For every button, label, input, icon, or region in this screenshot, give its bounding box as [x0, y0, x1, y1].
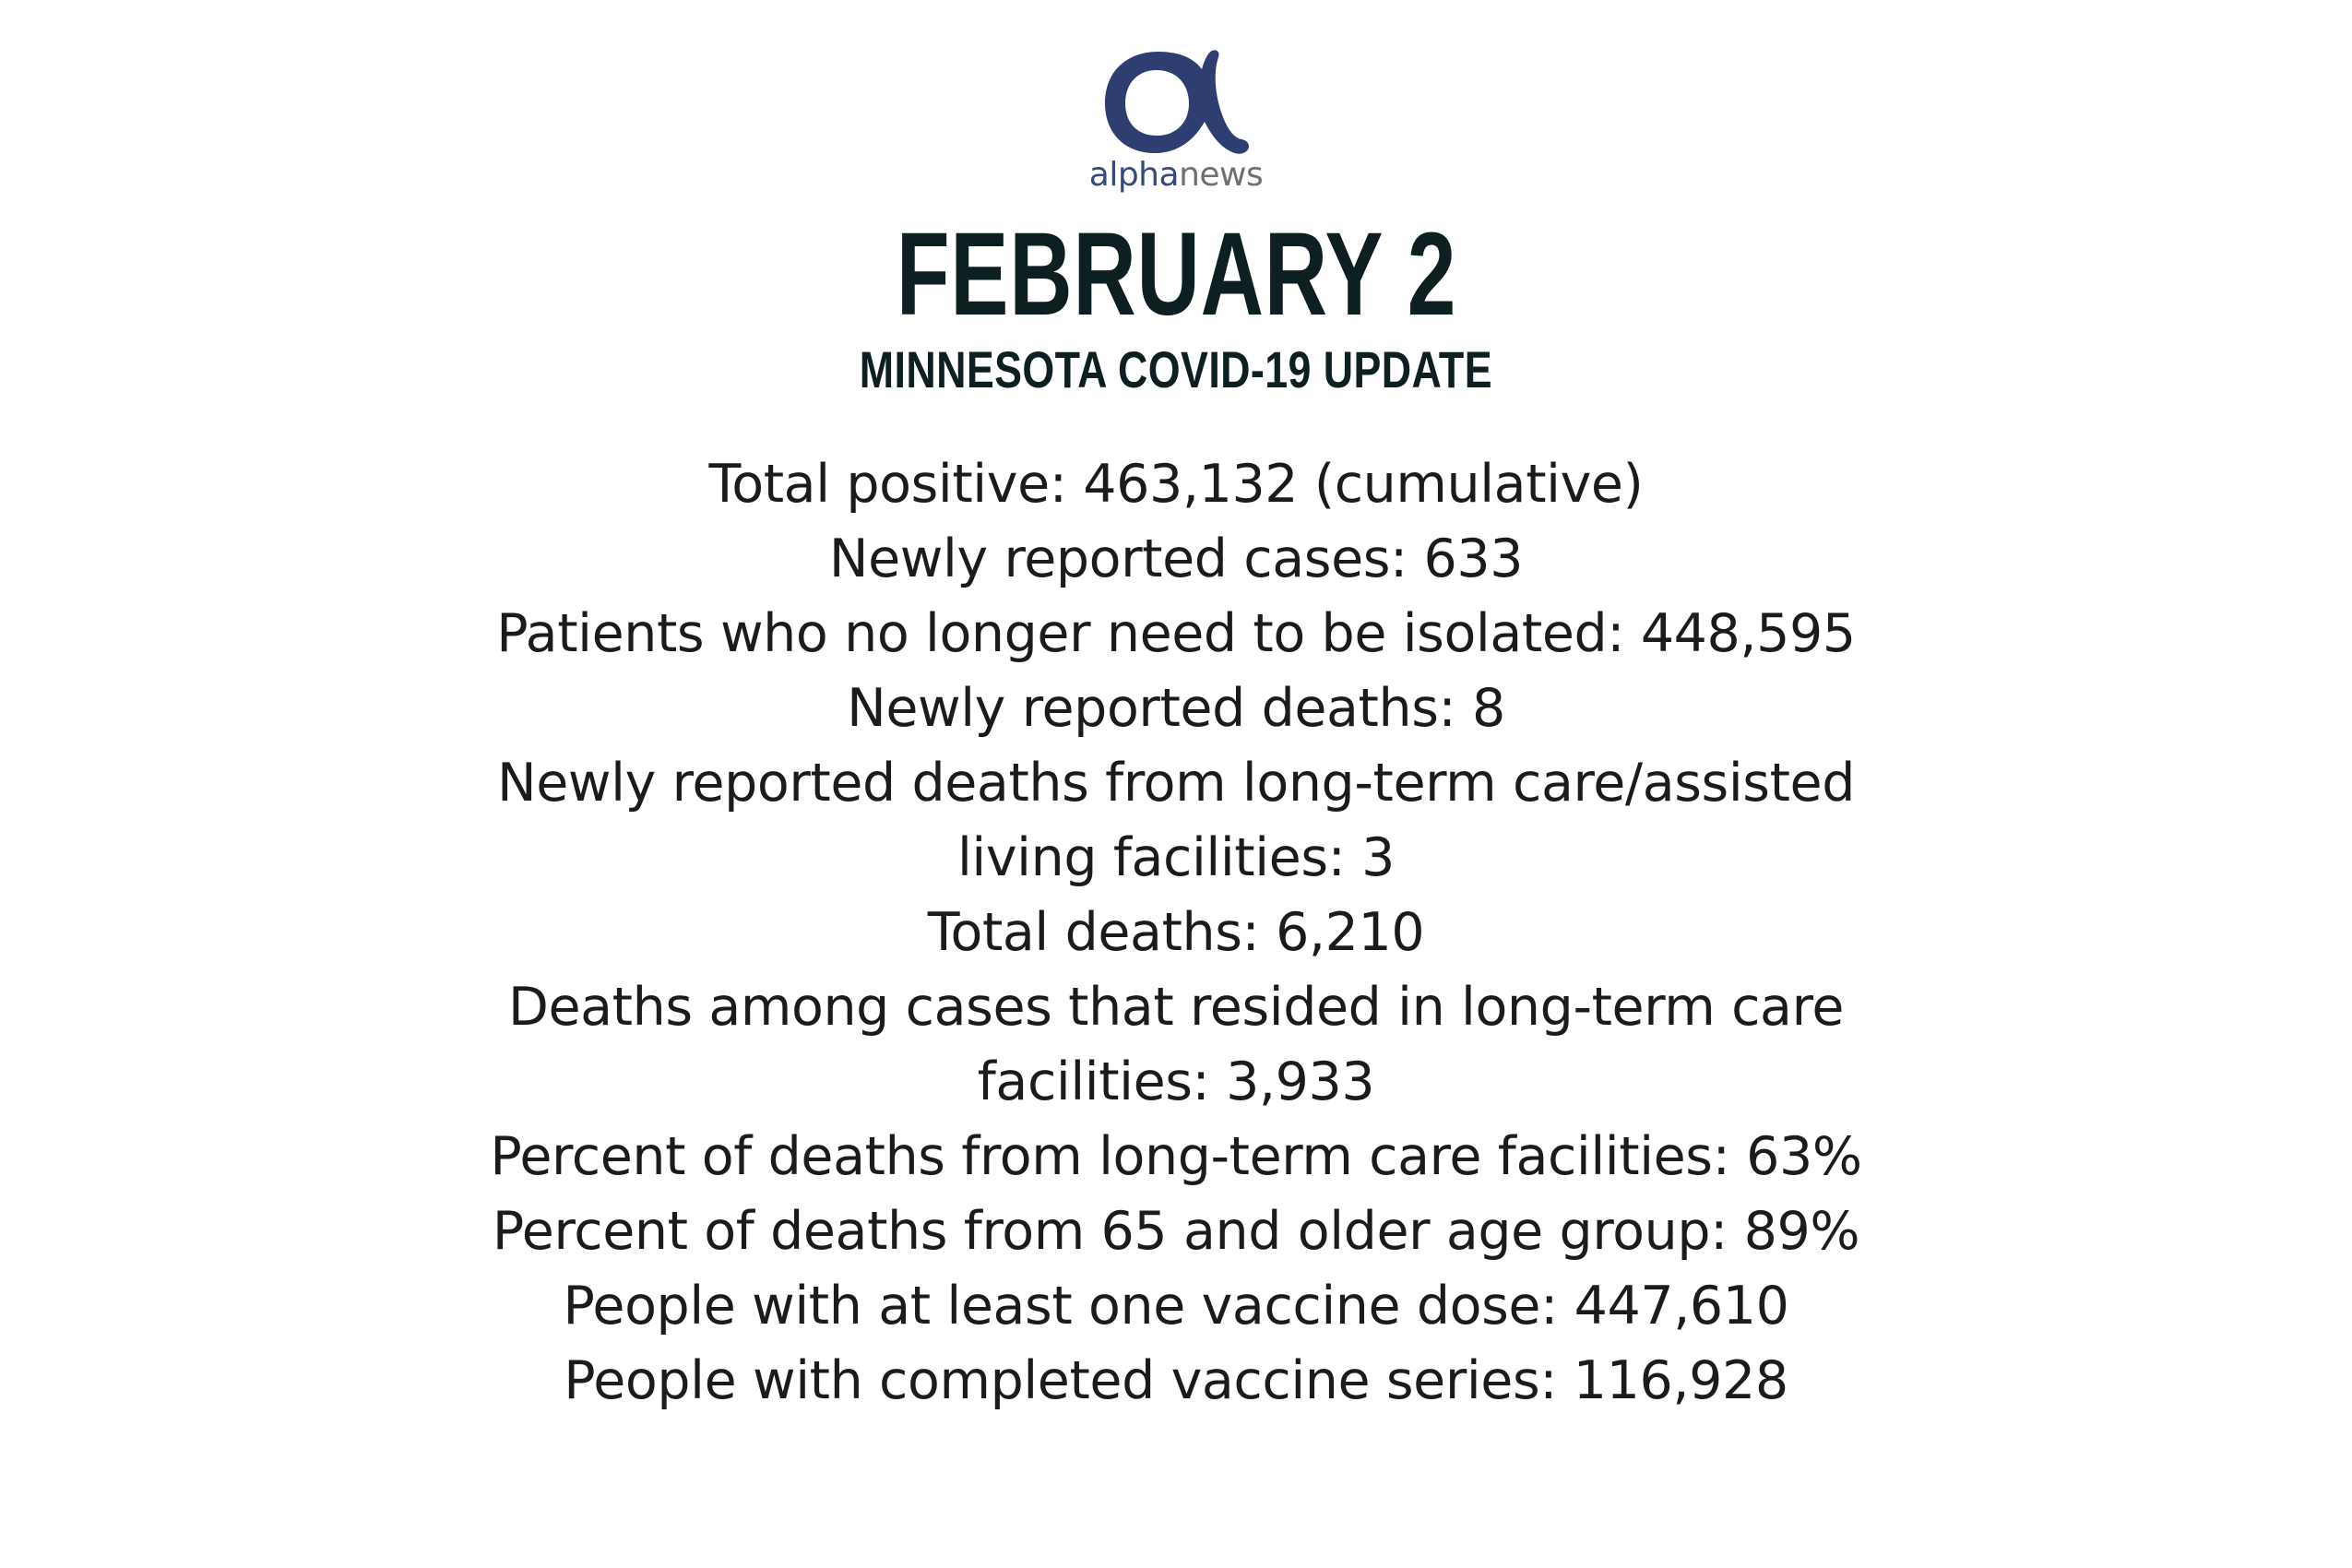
stat-newly-reported-ltc-deaths: Newly reported deaths from long-term car… — [457, 746, 1895, 896]
stat-percent-deaths-ltc: Percent of deaths from long-term care fa… — [457, 1120, 1895, 1194]
alphanews-logo: alphanews — [1056, 48, 1296, 192]
stats-list: Total positive: 463,132 (cumulative) New… — [457, 447, 1895, 1419]
stat-total-deaths: Total deaths: 6,210 — [457, 896, 1895, 970]
wordmark-alpha: alpha — [1089, 156, 1179, 194]
wordmark-news: news — [1179, 156, 1263, 194]
stat-at-least-one-dose: People with at least one vaccine dose: 4… — [457, 1269, 1895, 1344]
stat-percent-deaths-65-plus: Percent of deaths from 65 and older age … — [457, 1194, 1895, 1269]
page-title: FEBRUARY 2 — [896, 227, 1455, 324]
stat-newly-reported-cases: Newly reported cases: 633 — [457, 522, 1895, 597]
alpha-glyph-icon — [1098, 48, 1254, 157]
page-subtitle: MINNESOTA COVID-19 UPDATE — [860, 344, 1492, 396]
stat-ltc-resident-deaths: Deaths among cases that resided in long-… — [457, 970, 1895, 1120]
covid-update-graphic: alphanews FEBRUARY 2 MINNESOTA COVID-19 … — [0, 0, 2352, 1568]
stat-total-positive: Total positive: 463,132 (cumulative) — [457, 447, 1895, 522]
stat-no-longer-isolated: Patients who no longer need to be isolat… — [457, 597, 1895, 671]
alphanews-wordmark: alphanews — [1089, 159, 1263, 192]
stat-newly-reported-deaths: Newly reported deaths: 8 — [457, 671, 1895, 746]
stat-completed-series: People with completed vaccine series: 11… — [457, 1344, 1895, 1419]
